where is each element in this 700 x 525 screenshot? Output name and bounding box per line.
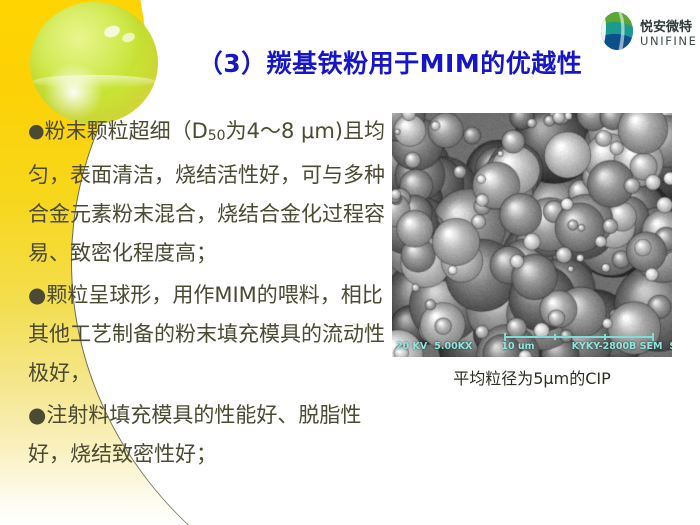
company-logo: 悦安微特 UNIFINE [598, 6, 694, 60]
sem-particle-canvas [392, 113, 672, 357]
logo-chinese-name: 悦安微特 [640, 20, 692, 35]
para-1-seg-1: 粉末颗粒超细（D [45, 119, 208, 143]
bullet-paragraph-1: ●粉末颗粒超细（D50为4～8 μm)且均匀，表面清洁，烧结活性好，可与多种合金… [28, 112, 388, 273]
presentation-slide: 悦安微特 UNIFINE （3）羰基铁粉用于MIM的优越性 ●粉末颗粒超细（D5… [0, 0, 700, 525]
logo-english-name: UNIFINE [640, 36, 698, 48]
slide-title: （3）羰基铁粉用于MIM的优越性 [180, 44, 600, 80]
glossy-sphere-decoration [30, 2, 158, 124]
para-1-subscript: 50 [208, 128, 226, 144]
sem-info-bar: 20 KV 5.00KX 10 um KYKY-2800B SEM SN:016… [392, 335, 672, 357]
bullet-paragraph-3: ●注射料填充模具的性能好、脱脂性好，烧结致密性好； [28, 396, 388, 474]
sem-instrument-label: KYKY-2800B SEM [572, 341, 663, 352]
slide-body-text: ●粉末颗粒超细（D50为4～8 μm)且均匀，表面清洁，烧结活性好，可与多种合金… [28, 112, 388, 474]
sem-scale-length-label: 10 um [501, 341, 534, 352]
micrograph-caption: 平均粒径为5μm的CIP [392, 365, 672, 389]
sem-serial-label: SN:0168 [669, 341, 672, 352]
sphere-band-highlight [33, 75, 156, 88]
para-1-bullet: ● [28, 120, 45, 142]
logo-wordmark: 悦安微特 UNIFINE [640, 18, 698, 48]
sphere-highlight-a [103, 24, 122, 39]
sem-voltage-label: 20 KV [396, 341, 427, 352]
sem-magnification-label: 5.00KX [434, 341, 472, 352]
unifine-logo-icon [598, 10, 636, 56]
sphere-highlight-b [121, 31, 136, 44]
sem-micrograph-image: 20 KV 5.00KX 10 um KYKY-2800B SEM SN:016… [392, 113, 672, 357]
bullet-paragraph-2: ●颗粒呈球形，用作MIM的喂料，相比其他工艺制备的粉末填充模具的流动性极好， [28, 276, 388, 393]
